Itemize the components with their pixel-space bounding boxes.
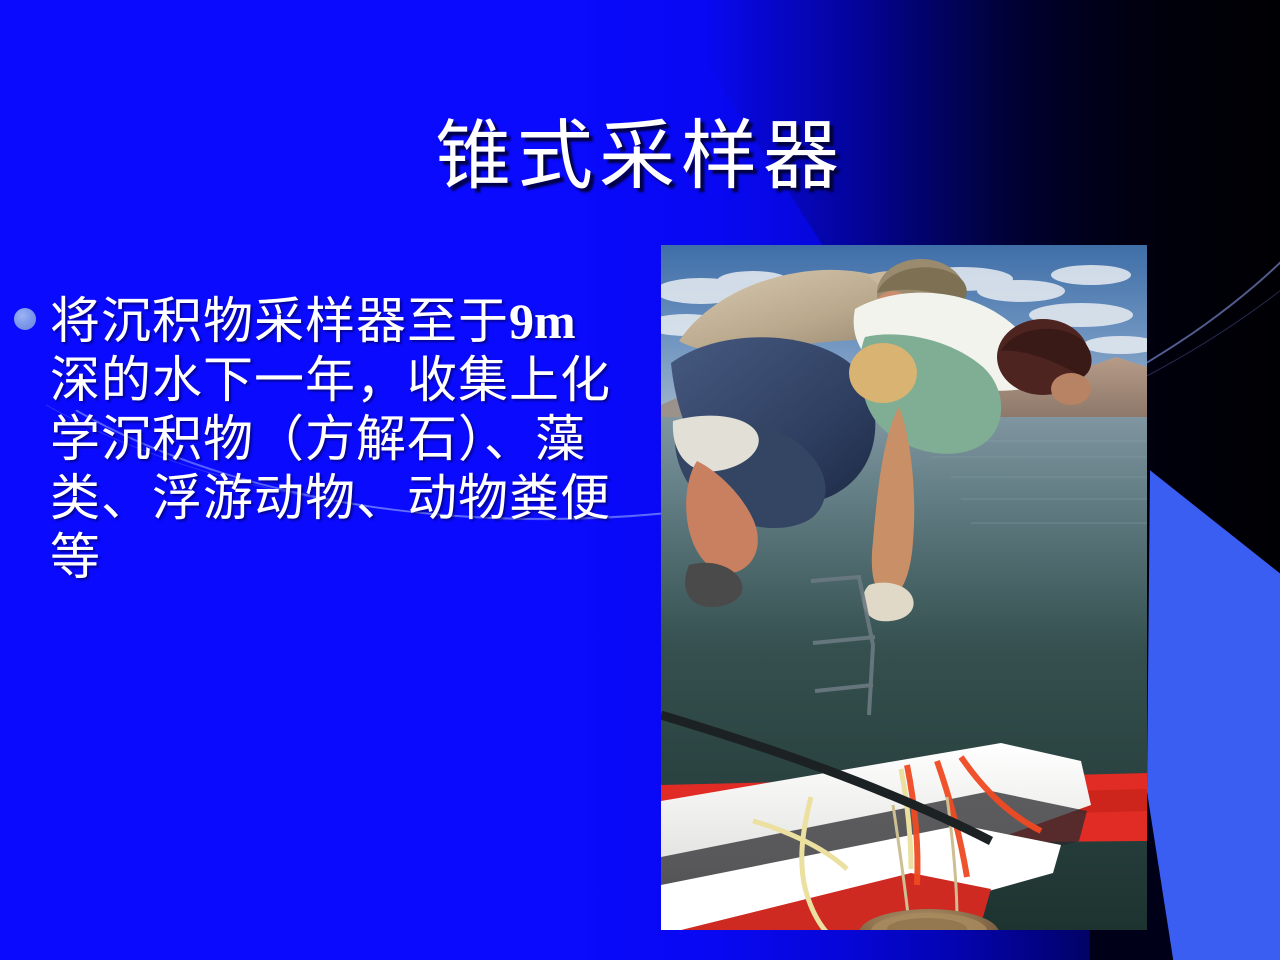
list-item: 将沉积物采样器至于9m深的水下一年，收集上化学沉积物（方解石）、藻类、浮游动物、… <box>14 292 624 587</box>
bullet-dot-icon <box>14 308 36 330</box>
slide-title: 锥式采样器 <box>0 118 1280 198</box>
bullet-text-depth-value: 9m <box>509 293 576 349</box>
photo-illustration <box>661 245 1147 930</box>
slide-body: 将沉积物采样器至于9m深的水下一年，收集上化学沉积物（方解石）、藻类、浮游动物、… <box>14 292 624 587</box>
bullet-item-text: 将沉积物采样器至于9m深的水下一年，收集上化学沉积物（方解石）、藻类、浮游动物、… <box>50 292 624 587</box>
bullet-text-part-2: 深的水下一年，收集上化学沉积物（方解石）、藻类、浮游动物、动物粪便等 <box>50 352 611 585</box>
bullet-text-part-1: 将沉积物采样器至于 <box>50 293 509 349</box>
presentation-slide: 锥式采样器 将沉积物采样器至于9m深的水下一年，收集上化学沉积物（方解石）、藻类… <box>0 0 1280 960</box>
slide-photo <box>661 245 1147 930</box>
